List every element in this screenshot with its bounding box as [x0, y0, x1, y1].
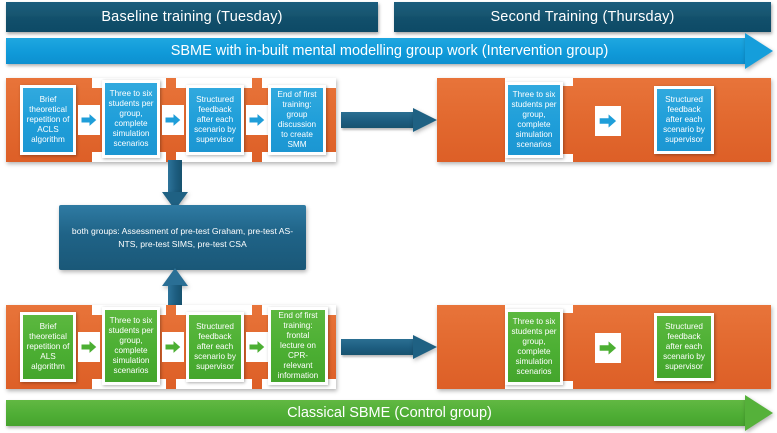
step-label: Three to six students per group, complet…: [108, 316, 154, 376]
flowchart-canvas: Baseline training (Tuesday) Second Train…: [0, 0, 777, 433]
step-label: Structured feedback after each scenario …: [660, 322, 708, 372]
arrow-right-icon: [413, 108, 437, 132]
chevron-right-icon: [162, 332, 184, 362]
connector-bottom-arrow: [341, 335, 437, 359]
assessment-label: both groups: Assessment of pre-test Grah…: [69, 225, 296, 250]
connector-down-arrow: [162, 160, 188, 210]
banner-control-group: Classical SBME (Control group): [6, 400, 773, 426]
chevron-right-icon: [595, 106, 621, 136]
step-intervention-baseline-3[interactable]: Structured feedback after each scenario …: [186, 85, 244, 155]
header-second-training: Second Training (Thursday): [394, 2, 771, 32]
step-label: Brief theoretical repetition of ALS algo…: [26, 322, 70, 372]
step-control-baseline-1[interactable]: Brief theoretical repetition of ALS algo…: [20, 312, 76, 382]
chevron-right-icon: [78, 332, 100, 362]
step-control-second-2[interactable]: Structured feedback after each scenario …: [654, 313, 714, 381]
step-label: Structured feedback after each scenario …: [660, 95, 708, 145]
assessment-box[interactable]: both groups: Assessment of pre-test Grah…: [59, 205, 306, 270]
banner-intervention-label: SBME with in-built mental modelling grou…: [171, 43, 609, 59]
step-label: Three to six students per group, complet…: [511, 317, 557, 377]
arrow-right-icon: [413, 335, 437, 359]
step-control-baseline-3[interactable]: Structured feedback after each scenario …: [186, 312, 244, 382]
chevron-right-icon: [246, 332, 268, 362]
header-baseline-training: Baseline training (Tuesday): [6, 2, 378, 32]
step-intervention-second-1[interactable]: Three to six students per group, complet…: [505, 82, 563, 158]
arrow-right-icon: [745, 33, 773, 69]
banner-intervention-group: SBME with in-built mental modelling grou…: [6, 38, 773, 64]
step-control-baseline-4[interactable]: End of first training: frontal lecture o…: [268, 307, 328, 385]
connector-shaft: [341, 112, 413, 128]
step-control-second-1[interactable]: Three to six students per group, complet…: [505, 309, 563, 385]
connector-top-arrow: [341, 108, 437, 132]
step-intervention-baseline-4[interactable]: End of first training: group discussion …: [268, 85, 326, 155]
step-intervention-baseline-1[interactable]: Brief theoretical repetition of ACLS alg…: [20, 85, 76, 155]
step-label: Structured feedback after each scenario …: [192, 322, 238, 372]
chevron-right-icon: [246, 105, 268, 135]
chevron-right-icon: [595, 333, 621, 363]
step-label: End of first training: group discussion …: [274, 90, 320, 150]
step-label: Structured feedback after each scenario …: [192, 95, 238, 145]
step-label: Three to six students per group, complet…: [511, 90, 557, 150]
header-baseline-training-label: Baseline training (Tuesday): [101, 9, 282, 25]
chevron-right-icon: [162, 105, 184, 135]
step-control-baseline-2[interactable]: Three to six students per group, complet…: [102, 307, 160, 385]
connector-shaft: [168, 160, 182, 192]
step-intervention-second-2[interactable]: Structured feedback after each scenario …: [654, 86, 714, 154]
banner-control-label: Classical SBME (Control group): [287, 405, 492, 421]
chevron-right-icon: [78, 105, 100, 135]
step-intervention-baseline-2[interactable]: Three to six students per group, complet…: [102, 80, 160, 158]
step-label: Three to six students per group, complet…: [108, 89, 154, 149]
connector-shaft: [341, 339, 413, 355]
arrow-up-icon: [162, 268, 188, 286]
header-second-training-label: Second Training (Thursday): [490, 9, 674, 25]
step-label: End of first training: frontal lecture o…: [274, 311, 322, 381]
arrow-right-icon: [745, 395, 773, 431]
step-label: Brief theoretical repetition of ACLS alg…: [26, 95, 70, 145]
